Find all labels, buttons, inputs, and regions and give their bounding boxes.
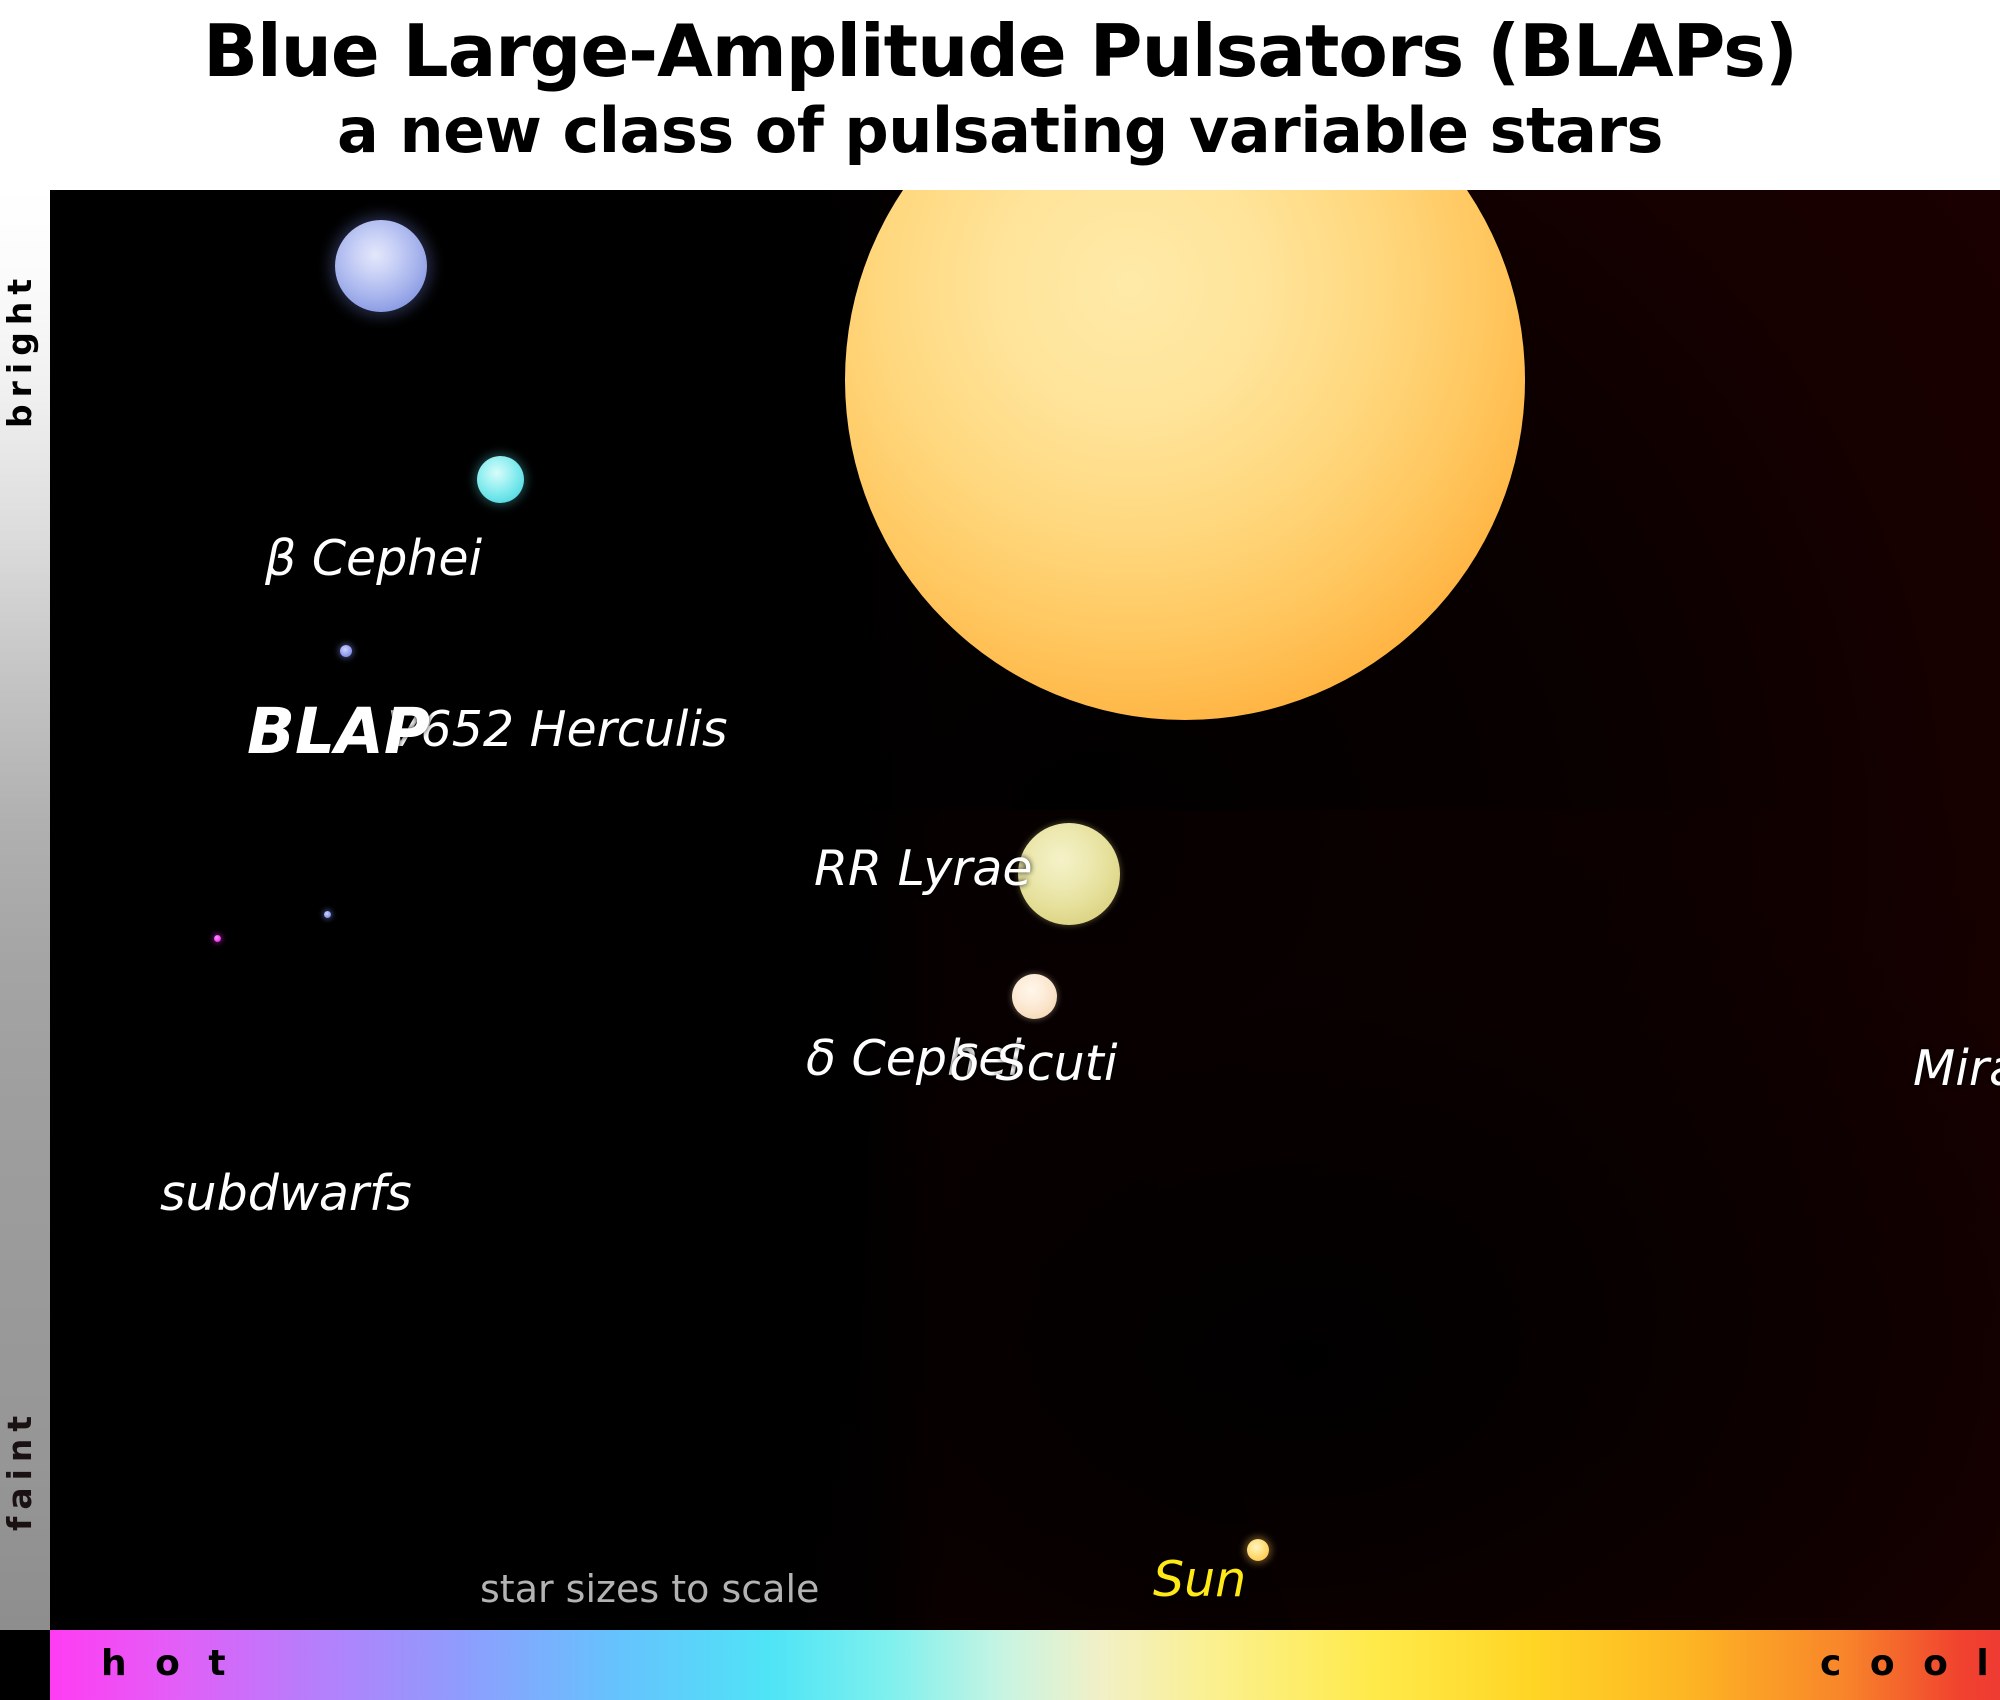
label-sun: Sun: [1153, 1551, 1246, 1608]
label-v652-herculis: V652 Herculis: [387, 701, 728, 758]
star-delta-scuti: [1012, 974, 1057, 1019]
temperature-spectrum-bar: [50, 1630, 2000, 1700]
star-v652-herculis: [477, 456, 524, 503]
page-title: Blue Large-Amplitude Pulsators (BLAPs): [0, 0, 2000, 94]
axis-label-bright: bright: [0, 200, 50, 500]
left-dark-field: [50, 190, 950, 1630]
sky-panel: β Cephei V652 Herculis BLAP δ Cephei RR …: [50, 190, 2000, 1630]
label-beta-cephei: β Cephei: [265, 530, 482, 587]
label-subdwarfs: subdwarfs: [160, 1165, 412, 1222]
axis-label-faint: faint: [0, 1320, 50, 1620]
axis-label-hot: h o t: [101, 1643, 234, 1684]
bottom-left-corner: [0, 1630, 50, 1700]
label-delta-scuti: δ Scuti: [950, 1035, 1117, 1092]
star-subdwarf-magenta: [214, 935, 221, 942]
infographic-root: Blue Large-Amplitude Pulsators (BLAPs) a…: [0, 0, 2000, 1700]
star-sun: [1247, 1539, 1269, 1561]
star-rr-lyrae: [1018, 823, 1120, 925]
label-rr-lyrae: RR Lyrae: [814, 840, 1033, 897]
axis-label-cool: c o o l: [1820, 1643, 1997, 1684]
scale-note: star sizes to scale: [480, 1567, 819, 1611]
label-mira: Mira: [1913, 1040, 2000, 1097]
star-beta-cephei: [335, 220, 427, 312]
mira-shading-lower: [870, 810, 2000, 1630]
title-block: Blue Large-Amplitude Pulsators (BLAPs) a…: [0, 0, 2000, 190]
star-subdwarf-violet: [324, 911, 331, 918]
star-blap: [340, 645, 352, 657]
page-subtitle: a new class of pulsating variable stars: [0, 94, 2000, 168]
label-blap: BLAP: [247, 695, 430, 768]
